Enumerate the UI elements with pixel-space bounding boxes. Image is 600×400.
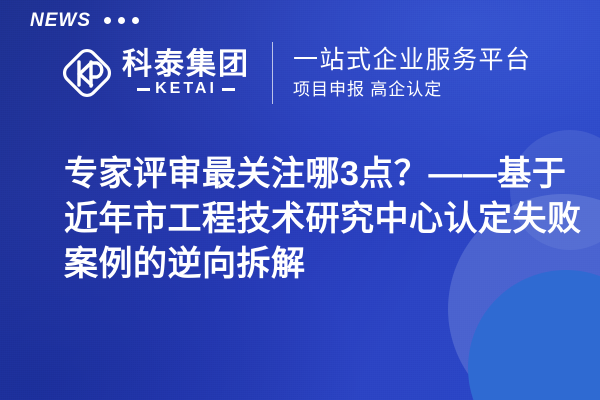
tagline-sub: 项目申报 高企认定 xyxy=(293,80,532,100)
dot-icon xyxy=(104,17,111,24)
tagline-main: 一站式企业服务平台 xyxy=(293,46,532,75)
vertical-divider xyxy=(272,42,273,104)
brand-lockup: 科泰集团 KETAI 一站式企业服务平台 项目申报 高企认定 xyxy=(58,42,532,104)
rule-right-icon xyxy=(222,88,235,91)
brand-name-en-row: KETAI xyxy=(137,81,235,97)
rule-left-icon xyxy=(137,88,150,91)
brand-name-cn: 科泰集团 xyxy=(122,49,250,81)
dot-icon xyxy=(132,17,139,24)
news-banner-poster: NEWS 科泰集团 xyxy=(0,0,600,400)
eyebrow: NEWS xyxy=(30,11,139,30)
ketai-kp-diamond-logo-icon xyxy=(58,44,116,102)
headline: 专家评审最关注哪3点？——基于 近年市工程技术研究中心认定失败 案例的逆向拆解 xyxy=(64,152,564,288)
brand-name-en: KETAI xyxy=(155,81,217,97)
brand-tagline-group: 一站式企业服务平台 项目申报 高企认定 xyxy=(293,46,532,100)
eyebrow-label: NEWS xyxy=(30,11,91,30)
headline-line-2: 近年市工程技术研究中心认定失败 xyxy=(64,197,564,242)
eyebrow-dots-icon xyxy=(104,17,139,24)
dot-icon xyxy=(118,17,125,24)
headline-line-1: 专家评审最关注哪3点？——基于 xyxy=(64,152,564,197)
headline-line-3: 案例的逆向拆解 xyxy=(64,242,564,287)
brand-wordmark: 科泰集团 KETAI xyxy=(122,49,250,98)
